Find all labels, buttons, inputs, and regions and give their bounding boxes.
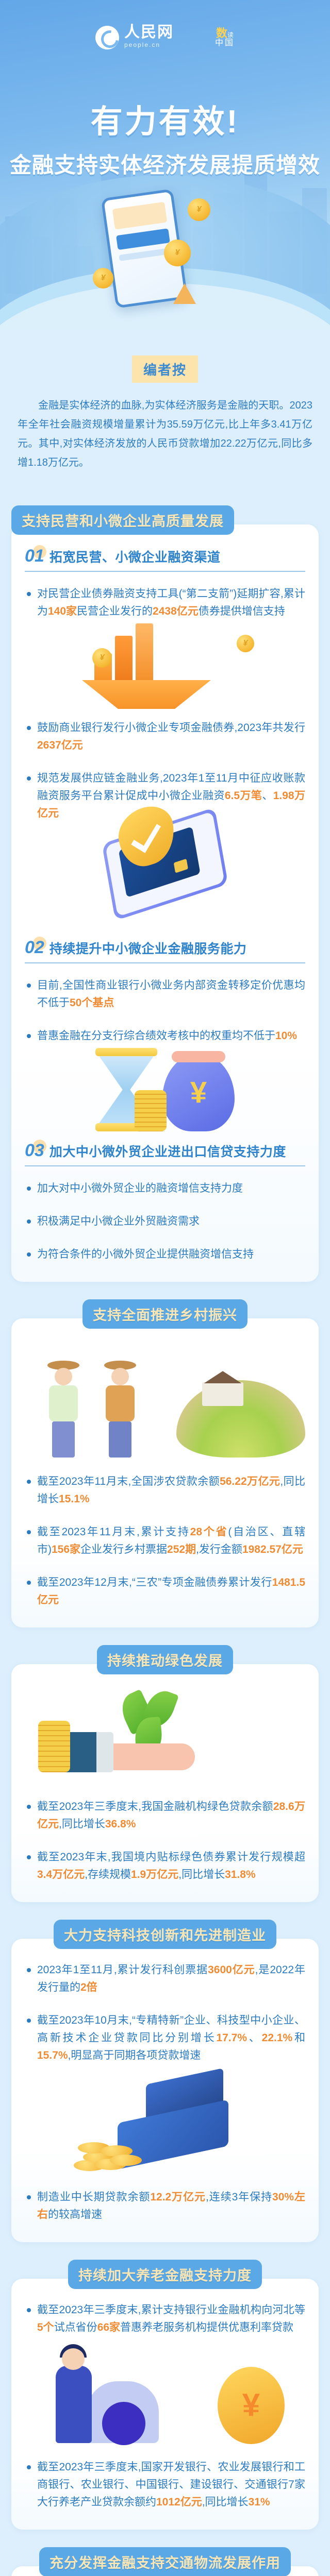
subsection-number: 03 (25, 1142, 44, 1159)
bullet-item: 普惠金融在分支行综合绩效考核中的权重均不低于10% (25, 1027, 305, 1045)
highlight-value: 66家 (97, 2321, 120, 2333)
people-logo-en: people.cn (124, 40, 174, 50)
phone-money-illustration: ¥ ¥ ¥ (108, 193, 180, 304)
section-title-pill: 支持全面推进乡村振兴 (82, 1299, 247, 1329)
bullet-item: 截至2023年11月末,累计支持28个省(自治区、直辖市)156家企业发行乡村票… (25, 1523, 305, 1558)
section-4: 大力支持科技创新和先进制造业2023年1至11月,累计发行科创票据3600亿元,… (11, 1920, 319, 2242)
du-char: 读 (227, 31, 234, 39)
china-chars: 中国 (215, 39, 235, 48)
highlight-value: 3.4万亿元 (37, 1869, 85, 1880)
divider (25, 962, 305, 963)
bullet-item: 积极满足中小微企业外贸融资需求 (25, 1213, 305, 1230)
highlight-value: 140家 (48, 605, 77, 617)
bullet-list: 对民营企业债券融资支持工具(“第二支箭”)延期扩容,累计为140家民营企业发行的… (25, 585, 305, 620)
divider (25, 571, 305, 572)
section-title-pill: 持续加大养老金融支持力度 (68, 2260, 262, 2289)
bullet-item: 截至2023年三季度末,累计支持银行业金融机构向河北等5个试点省份66家普惠养老… (25, 2301, 305, 2336)
subsection-number: 02 (25, 939, 44, 956)
highlight-value: 36.8% (105, 1818, 136, 1830)
brand-bar: 人民网 people.cn 数读 中国 (0, 25, 330, 50)
section-1: 支持民营和小微企业高质量发展01拓宽民营、小微企业融资渠道对民营企业债券融资支持… (11, 505, 319, 1282)
hourglass-moneybag-illustration: ¥ (25, 1048, 305, 1131)
village-farmers-illustration (25, 1344, 305, 1463)
subsection-heading: 02持续提升中小微企业金融服务能力 (25, 939, 305, 957)
section-card: 2023年1至11月,累计发行科创票据3600亿元,是2022年发行量的2倍截至… (11, 1939, 319, 2242)
hand-plant-coins-illustration (25, 1690, 305, 1788)
highlight-value: 6.5万笔 (225, 790, 262, 802)
highlight-value: 2倍 (80, 1981, 97, 1993)
subsection-heading: 01拓宽民营、小微企业融资渠道 (25, 547, 305, 566)
bullet-item: 截至2023年末,我国境内贴标绿色债券累计发行规模超3.4万亿元,存续规模1.9… (25, 1849, 305, 1884)
highlight-value: 15.7% (37, 2049, 68, 2061)
bullet-list: 鼓励商业银行发行小微企业专项金融债券,2023年共发行2637亿元规范发展供应链… (25, 719, 305, 822)
highlight-value: 31% (249, 2496, 270, 2508)
section-card: 01拓宽民营、小微企业融资渠道对民营企业债券融资支持工具(“第二支箭”)延期扩容… (11, 524, 319, 1282)
bullet-item: 为符合条件的小微外贸企业提供融资增信支持 (25, 1246, 305, 1263)
hero-title-line1: 有力有效! (0, 95, 330, 142)
hero-banner: 人民网 people.cn 数读 中国 有力有效! 金融支持实体经济发展提质增效… (0, 0, 330, 330)
bullet-item: 制造业中长期贷款余额12.2万亿元,连续3年保持30%左右的较高增速 (25, 2189, 305, 2224)
section-3: 持续推动绿色发展 截至2023年三季度末,我国金融机构绿色贷款余额28.6万亿元… (11, 1645, 319, 1902)
section-2: 支持全面推进乡村振兴 截至2023年11月末,全国涉农贷款余额56.22万亿元,… (11, 1299, 319, 1628)
bullet-list: 加大对中小微外贸企业的融资增信支持力度积极满足中小微企业外贸融资需求为符合条件的… (25, 1180, 305, 1263)
highlight-value: 50个基点 (70, 997, 114, 1009)
highlight-value: 31.8% (225, 1869, 256, 1880)
sections-container: 支持民营和小微企业高质量发展01拓宽民营、小微企业融资渠道对民营企业债券融资支持… (0, 505, 330, 2576)
bullet-list: 截至2023年三季度末,我国金融机构绿色贷款余额28.6万亿元,同比增长36.8… (25, 1798, 305, 1884)
section-card: 截至2023年三季度末,我国金融机构绿色贷款余额28.6万亿元,同比增长36.8… (11, 1664, 319, 1902)
subsection-title: 加大中小微外贸企业进出口信贷支持力度 (49, 1142, 286, 1160)
infographic-page: 人民网 people.cn 数读 中国 有力有效! 金融支持实体经济发展提质增效… (0, 0, 330, 2576)
hero-title-line2: 金融支持实体经济发展提质增效 (0, 148, 330, 179)
highlight-value: 17.7% (216, 2032, 247, 2044)
phone-shield-illustration (25, 825, 305, 928)
people-logo-cn: 人民网 (124, 25, 174, 40)
highlight-value: 1.98万亿元 (37, 790, 305, 819)
bullet-item: 鼓励商业银行发行小微企业专项金融债券,2023年共发行2637亿元 (25, 719, 305, 754)
highlight-value: 15.1% (59, 1493, 90, 1505)
highlight-value: 2637亿元 (37, 739, 83, 751)
bullet-list: 2023年1至11月,累计发行科创票据3600亿元,是2022年发行量的2倍截至… (25, 1961, 305, 2064)
bullet-item: 截至2023年三季度末,国家开发银行、农业发展银行和工商银行、农业银行、中国银行… (25, 2459, 305, 2511)
section-title-pill: 持续推动绿色发展 (97, 1645, 233, 1674)
laptop-coins-illustration (25, 2067, 305, 2178)
elderly-care-illustration: ¥ (25, 2340, 305, 2448)
divider (25, 1165, 305, 1166)
bullet-item: 截至2023年12月末,“三农”专项金融债券累计发行1481.5亿元 (25, 1574, 305, 1609)
people-logo-icon (95, 26, 119, 49)
bullet-item: 截至2023年10月末,“专精特新”企业、科技型中小企业、高新技术企业贷款同比分… (25, 2012, 305, 2064)
subsection-title: 持续提升中小微企业金融服务能力 (49, 939, 247, 957)
subsection-heading: 03加大中小微外贸企业进出口信贷支持力度 (25, 1142, 305, 1160)
highlight-value: 1.9万亿元 (131, 1869, 178, 1880)
bullet-item: 对民营企业债券融资支持工具(“第二支箭”)延期扩容,累计为140家民营企业发行的… (25, 585, 305, 620)
shudu-china-logo: 数读 中国 (215, 27, 235, 48)
highlight-value: 28.6万亿元 (37, 1801, 305, 1830)
section-title-pill: 支持民营和小微企业高质量发展 (11, 505, 234, 535)
bullet-item: 2023年1至11月,累计发行科创票据3600亿元,是2022年发行量的2倍 (25, 1961, 305, 1996)
section-card: 截至2023年三季度末,累计支持银行业金融机构向河北等5个试点省份66家普惠养老… (11, 2279, 319, 2529)
bullet-list: 截至2023年三季度末,累计支持银行业金融机构向河北等5个试点省份66家普惠养老… (25, 2301, 305, 2336)
highlight-value: 3600亿元 (208, 1964, 255, 1976)
highlight-value: 252期 (167, 1544, 196, 1555)
subsection-title: 拓宽民营、小微企业融资渠道 (49, 547, 221, 566)
page-title: 有力有效! 金融支持实体经济发展提质增效 (0, 95, 330, 179)
bullet-list: 截至2023年三季度末,国家开发银行、农业发展银行和工商银行、农业银行、中国银行… (25, 2459, 305, 2511)
highlight-value: 1481.5亿元 (37, 1577, 305, 1606)
highlight-value: 12.2万亿元 (150, 2191, 206, 2203)
bullet-item: 截至2023年三季度末,我国金融机构绿色贷款余额28.6万亿元,同比增长36.8… (25, 1798, 305, 1833)
highlight-value: 1982.57亿元 (242, 1544, 303, 1555)
bullet-list: 制造业中长期贷款余额12.2万亿元,连续3年保持30%左右的较高增速 (25, 2189, 305, 2224)
bar-chart-illustration: ¥ ¥ (25, 623, 305, 709)
bullet-list: 截至2023年11月末,全国涉农贷款余额56.22万亿元,同比增长15.1%截至… (25, 1473, 305, 1609)
bullet-item: 目前,全国性商业银行小微业务内部资金转移定价优惠均不低于50个基点 (25, 977, 305, 1012)
bullet-list: 目前,全国性商业银行小微业务内部资金转移定价优惠均不低于50个基点普惠金融在分支… (25, 977, 305, 1045)
shudu-char: 数 (216, 27, 227, 40)
section-title-pill: 充分发挥金融支持交通物流发展作用 (39, 2547, 291, 2576)
highlight-value: 1012亿元 (156, 2496, 202, 2508)
highlight-value: 156家 (52, 1544, 80, 1555)
subsection-number: 01 (25, 547, 44, 565)
editor-note-badge: 编者按 (132, 355, 198, 383)
bullet-item: 加大对中小微外贸企业的融资增信支持力度 (25, 1180, 305, 1197)
section-title-pill: 大力支持科技创新和先进制造业 (54, 1920, 276, 1949)
highlight-value: 22.1% (262, 2032, 293, 2044)
highlight-value: 10% (275, 1030, 297, 1042)
editor-note-block: 编者按 金融是实体经济的血脉,为实体经济服务是金融的天职。2023年全年社会融资… (0, 330, 330, 488)
highlight-value: 2438亿元 (153, 605, 199, 617)
highlight-value: 56.22万亿元 (220, 1476, 280, 1487)
highlight-value: 28个省 (190, 1526, 228, 1538)
people-cn-logo: 人民网 people.cn (95, 25, 174, 50)
editor-note-text: 金融是实体经济的血脉,为实体经济服务是金融的天职。2023年全年社会融资规模增量… (18, 396, 312, 472)
section-6: 充分发挥金融支持交通物流发展作用累计撬动银行业金融机构发放交通物流贷款超过160… (11, 2547, 319, 2576)
section-5: 持续加大养老金融支持力度截至2023年三季度末,累计支持银行业金融机构向河北等5… (11, 2260, 319, 2529)
bullet-item: 截至2023年11月末,全国涉农贷款余额56.22万亿元,同比增长15.1% (25, 1473, 305, 1508)
section-card: 截至2023年11月末,全国涉农贷款余额56.22万亿元,同比增长15.1%截至… (11, 1318, 319, 1628)
highlight-value: 5个 (37, 2321, 54, 2333)
